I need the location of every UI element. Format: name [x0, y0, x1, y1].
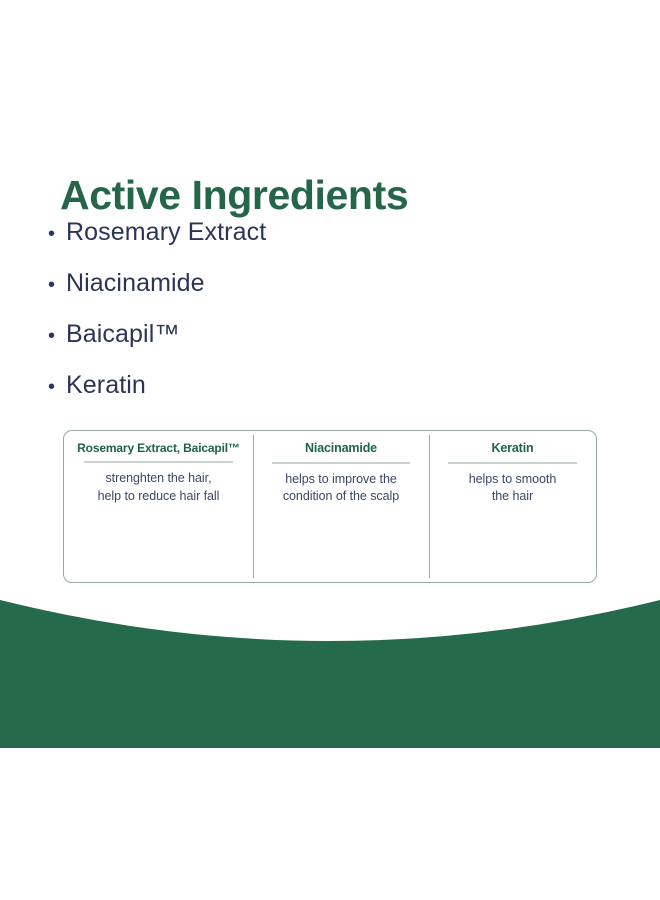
benefits-column-rosemary-baicapil: Rosemary Extract, Baicapil™ strenghten t…	[64, 431, 253, 582]
list-item: • Niacinamide	[48, 269, 468, 320]
header-divider	[448, 462, 578, 464]
body-line: helps to smooth	[437, 471, 588, 488]
column-body: helps to smooth the hair	[437, 471, 588, 506]
list-item: • Baicapil™	[48, 320, 468, 371]
column-header: Niacinamide	[261, 441, 421, 456]
column-body: helps to improve the condition of the sc…	[261, 471, 421, 506]
body-line: the hair	[437, 488, 588, 505]
bullet-icon: •	[48, 275, 66, 295]
header-divider	[84, 461, 233, 463]
ingredient-label: Keratin	[66, 371, 146, 400]
list-item: • Keratin	[48, 371, 468, 422]
ingredient-label: Baicapil™	[66, 320, 179, 349]
column-body: strenghten the hair, help to reduce hair…	[72, 470, 245, 505]
benefits-column-keratin: Keratin helps to smooth the hair	[429, 431, 596, 582]
column-header: Rosemary Extract, Baicapil™	[72, 441, 245, 455]
active-ingredients-list: • Rosemary Extract • Niacinamide • Baica…	[48, 218, 468, 422]
ingredient-label: Rosemary Extract	[66, 218, 266, 247]
product-info-page: Active Ingredients • Rosemary Extract • …	[0, 0, 660, 900]
body-line: strenghten the hair,	[72, 470, 245, 487]
benefits-table: Rosemary Extract, Baicapil™ strenghten t…	[63, 430, 597, 583]
bullet-icon: •	[48, 326, 66, 346]
column-header: Keratin	[437, 441, 588, 456]
header-divider	[272, 462, 410, 464]
body-line: helps to improve the	[261, 471, 421, 488]
body-line: condition of the scalp	[261, 488, 421, 505]
bullet-icon: •	[48, 224, 66, 244]
list-item: • Rosemary Extract	[48, 218, 468, 269]
bullet-icon: •	[48, 377, 66, 397]
page-title: Active Ingredients	[60, 173, 408, 218]
ingredient-label: Niacinamide	[66, 269, 205, 298]
green-curve-decoration	[0, 586, 660, 748]
benefits-column-niacinamide: Niacinamide helps to improve the conditi…	[253, 431, 429, 582]
body-line: help to reduce hair fall	[72, 488, 245, 505]
